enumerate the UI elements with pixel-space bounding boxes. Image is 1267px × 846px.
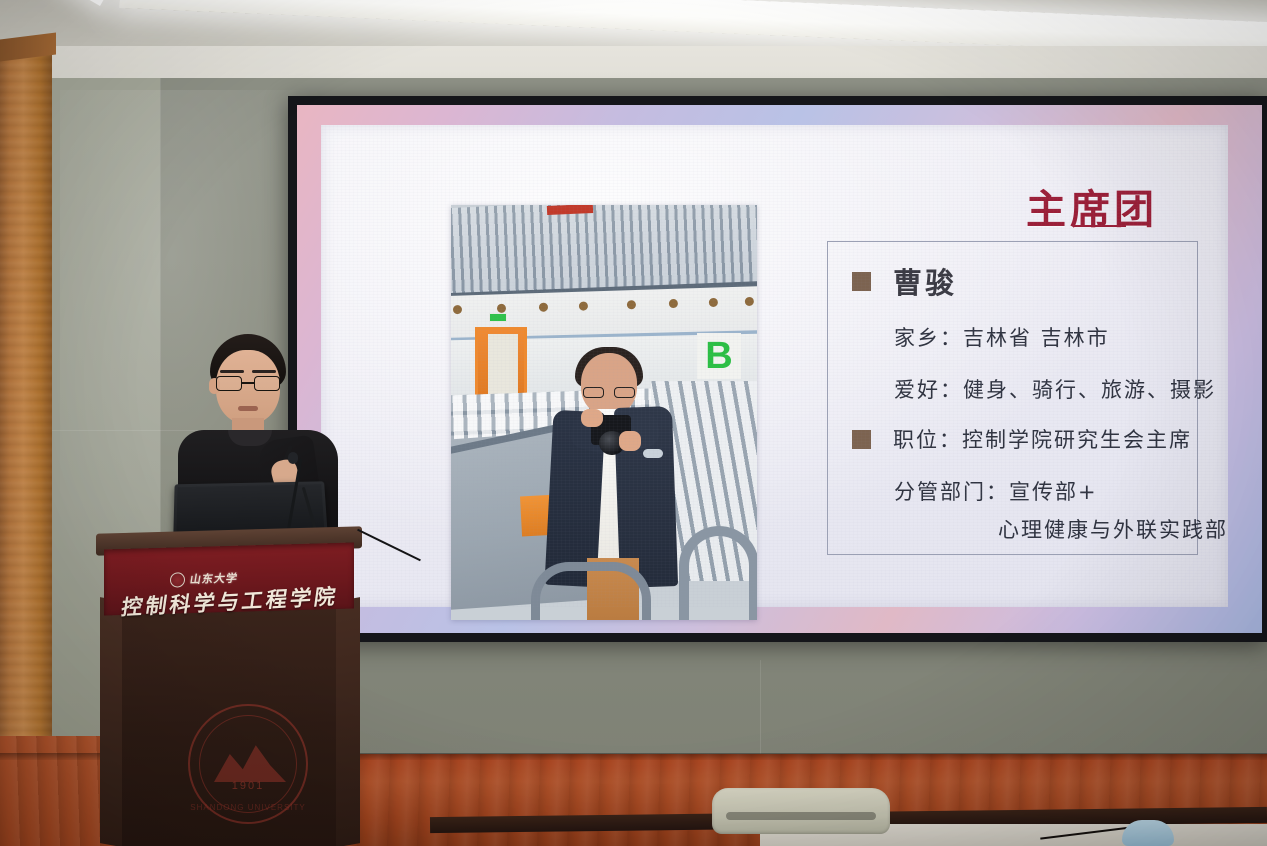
lectern-front-plaque: 山东大学 控制科学与工程学院 bbox=[104, 543, 354, 616]
speaker-eyebrows bbox=[220, 370, 276, 374]
photo-handrail-front bbox=[531, 562, 651, 620]
photo-person-glasses-icon bbox=[583, 387, 635, 398]
photo-section-sign-b: B bbox=[697, 333, 741, 379]
photo-person-hand-right bbox=[619, 431, 641, 451]
photo-person-jacket-badge bbox=[643, 449, 663, 458]
slide-photo: B bbox=[451, 205, 757, 620]
slide-row-department-cont: 心理健康与外联实践部 bbox=[998, 514, 1228, 544]
university-emblem: 1901 SHANDONG UNIVERSITY bbox=[188, 704, 308, 824]
bullet-square-icon bbox=[852, 272, 871, 291]
slide-row-hometown: 家乡：吉林省 吉林市 bbox=[894, 322, 1110, 352]
slide-row-hometown-text: 家乡：吉林省 吉林市 bbox=[894, 322, 1110, 352]
lectern-body: 1901 SHANDONG UNIVERSITY bbox=[122, 608, 336, 846]
photo-exit-sign bbox=[489, 313, 507, 322]
slide-title-underline bbox=[1074, 225, 1126, 227]
presentation-room-photo: B bbox=[0, 0, 1267, 846]
slide-row-position: 职位：控制学院研究生会主席 bbox=[852, 424, 1192, 454]
photo-person-hand-left bbox=[581, 409, 603, 427]
photo-person-head bbox=[581, 353, 637, 415]
projected-image-border: B bbox=[297, 105, 1262, 633]
slide-row-department: 分管部门：宣传部+ bbox=[894, 476, 1098, 506]
slide-name-row: 曹骏 bbox=[852, 260, 957, 302]
presentation-slide: B bbox=[321, 125, 1228, 607]
slide-textbox: 曹骏 家乡：吉林省 吉林市 爱好：健身、骑行、旅游、摄影 职位：控制学院研究生会… bbox=[827, 241, 1198, 555]
sdu-seal-icon bbox=[170, 572, 185, 587]
slide-row-department-text: 分管部门：宣传部+ bbox=[894, 476, 1098, 506]
slide-row-hobbies-text: 爱好：健身、骑行、旅游、摄影 bbox=[894, 374, 1216, 404]
bullet-square-icon bbox=[852, 430, 871, 449]
sdu-wordmark: 山东大学 bbox=[189, 570, 240, 587]
microphone-head bbox=[288, 452, 298, 464]
slide-row-department-cont-text: 心理健康与外联实践部 bbox=[998, 514, 1228, 544]
photo-orange-door bbox=[475, 327, 527, 401]
lectern: 1901 SHANDONG UNIVERSITY 山东大学 控制科学与工程学院 bbox=[96, 530, 362, 846]
emblem-university-name: SHANDONG UNIVERSITY bbox=[190, 803, 306, 812]
emblem-founding-year: 1901 bbox=[190, 780, 306, 792]
speaker-mouth bbox=[238, 406, 258, 411]
stage-bag bbox=[712, 788, 890, 834]
slide-row-hobbies: 爱好：健身、骑行、旅游、摄影 bbox=[894, 374, 1216, 404]
slide-row-position-text: 职位：控制学院研究生会主席 bbox=[893, 424, 1192, 454]
wood-wall-column bbox=[0, 48, 52, 788]
speaker-glasses-icon bbox=[216, 376, 280, 391]
photo-handrail-right bbox=[679, 526, 757, 620]
stage-blue-device bbox=[1122, 820, 1174, 846]
projection-screen[interactable]: B bbox=[288, 96, 1267, 642]
slide-person-name: 曹骏 bbox=[893, 260, 957, 302]
